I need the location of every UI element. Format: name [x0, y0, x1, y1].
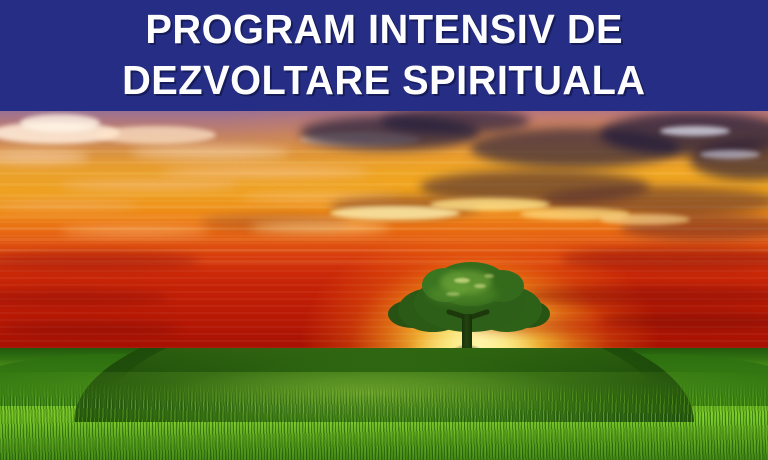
cloud-lit-edge [660, 126, 730, 136]
banner-title-line-2: DEZVOLTARE SPIRITUALA [122, 56, 646, 105]
cloud-light [96, 126, 216, 144]
cloud-lit-edge [700, 150, 760, 159]
poster-image: PROGRAM INTENSIV DE DEZVOLTARE SPIRITUAL… [0, 0, 768, 460]
tree-highlight [474, 284, 486, 288]
cloud-light [130, 146, 290, 159]
lone-tree [388, 258, 548, 350]
banner-title-line-1: PROGRAM INTENSIV DE [145, 5, 623, 54]
tree-highlight [484, 274, 494, 278]
cloud-dark [380, 108, 530, 134]
title-banner: PROGRAM INTENSIV DE DEZVOLTARE SPIRITUAL… [0, 0, 768, 111]
cloud-light [160, 166, 370, 178]
cloud-lit-edge [250, 222, 390, 233]
cloud-lit-edge [600, 214, 690, 225]
cloud-red-band [0, 322, 180, 336]
grass-shadow [0, 420, 768, 460]
tree-highlight [446, 292, 460, 296]
cloud-light [20, 114, 100, 132]
cloud-lit-edge [430, 198, 550, 211]
tree-highlight [428, 284, 498, 304]
cloud-light [60, 180, 240, 191]
cloud-lit-edge [60, 226, 210, 236]
tree-highlight [454, 278, 470, 283]
grass-field [0, 348, 768, 460]
